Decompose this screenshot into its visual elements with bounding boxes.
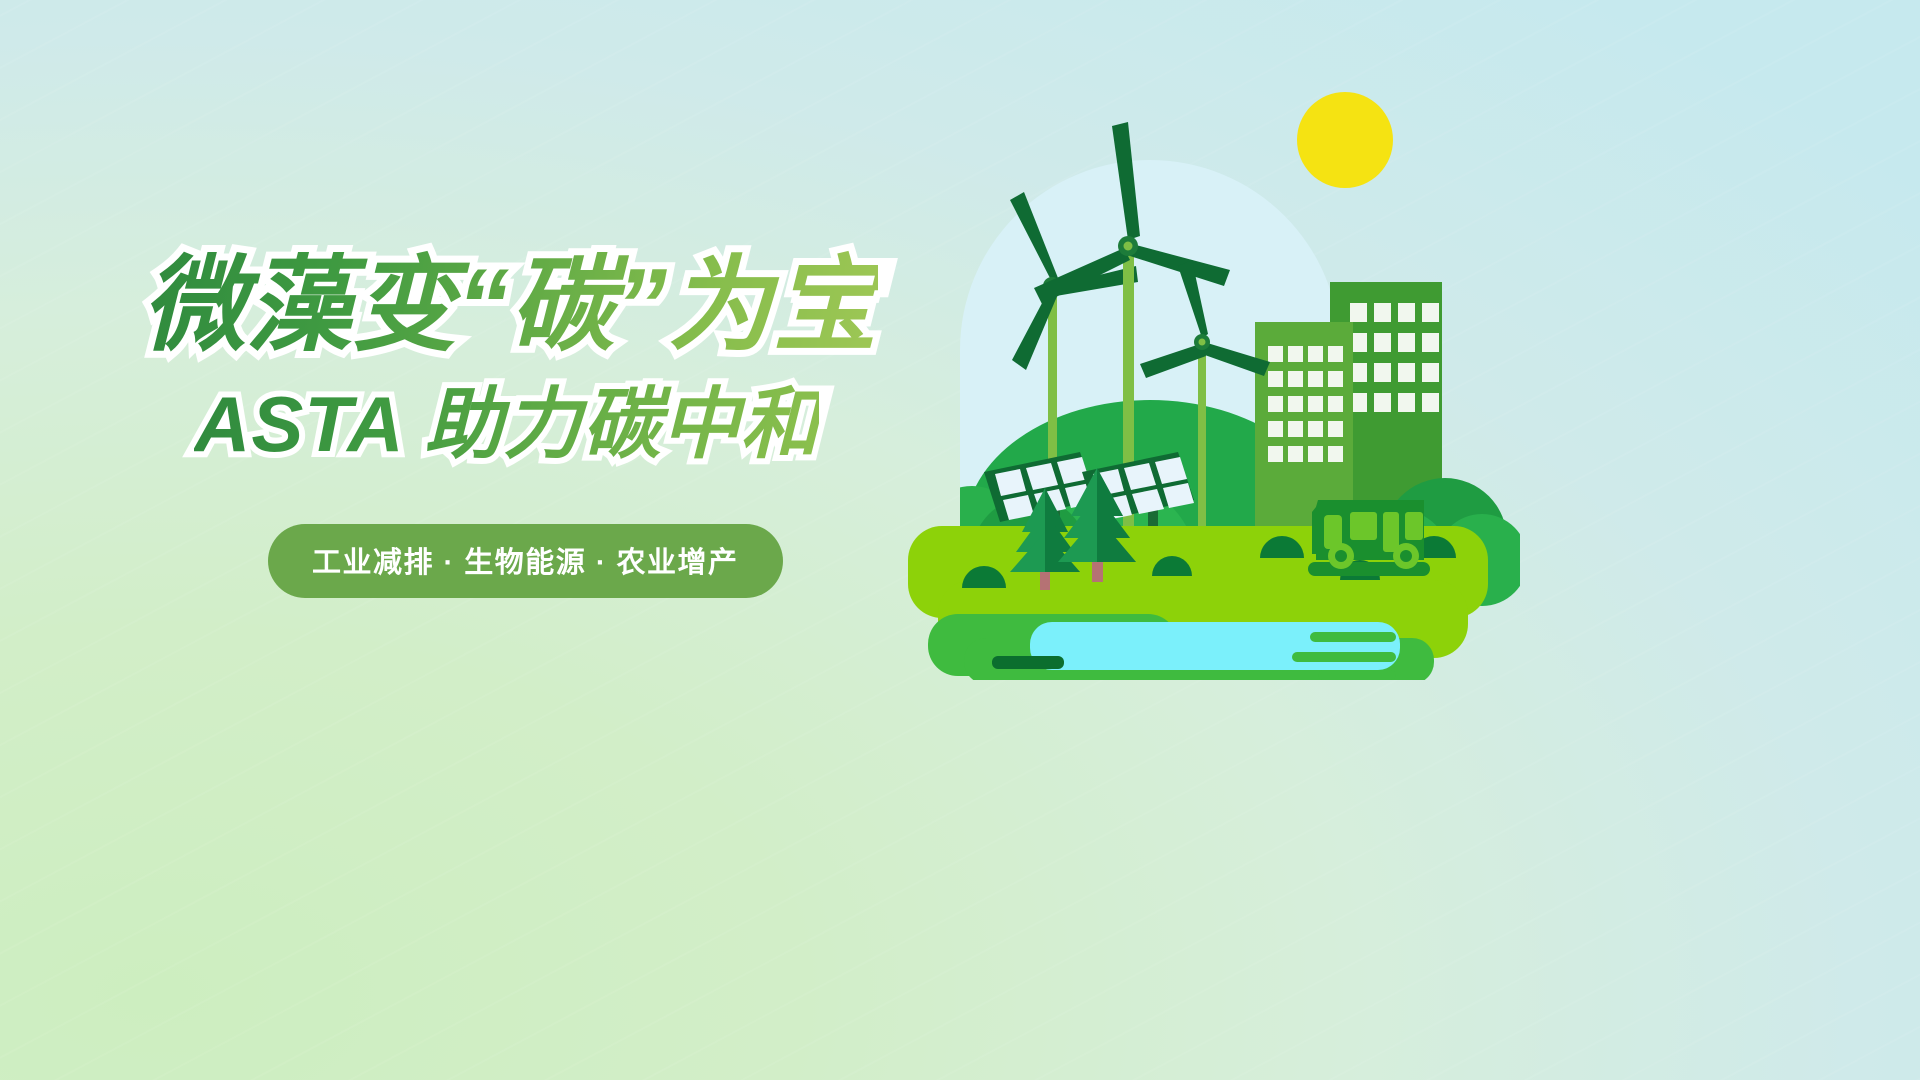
bank-stripe-left [992, 656, 1064, 669]
bank-stripe-right-1 [1310, 632, 1396, 642]
subheadline-fill: ASTA 助力碳中和 [194, 380, 819, 468]
headline-wrap: 微藻变“碳”为宝 微藻变“碳”为宝 [142, 248, 842, 364]
bus-icon [1308, 500, 1430, 576]
headline-fill: 微藻变“碳”为宝 [142, 248, 878, 364]
bank-stripe-right-3 [1318, 670, 1396, 680]
text-block: 微藻变“碳”为宝 微藻变“碳”为宝 ASTA 助力碳中和 ASTA 助力碳中和 … [142, 248, 842, 598]
subheadline: ASTA 助力碳中和 ASTA 助力碳中和 [194, 382, 842, 468]
headline: 微藻变“碳”为宝 微藻变“碳”为宝 [142, 248, 842, 364]
pond [1030, 622, 1400, 670]
eco-banner: 微藻变“碳”为宝 微藻变“碳”为宝 ASTA 助力碳中和 ASTA 助力碳中和 … [0, 0, 1920, 1080]
tagline-pill: 工业减排 · 生物能源 · 农业增产 [268, 524, 783, 598]
bank-stripe-right-2 [1292, 652, 1396, 662]
eco-city-illustration [900, 60, 1520, 680]
sun-icon [1297, 92, 1393, 188]
